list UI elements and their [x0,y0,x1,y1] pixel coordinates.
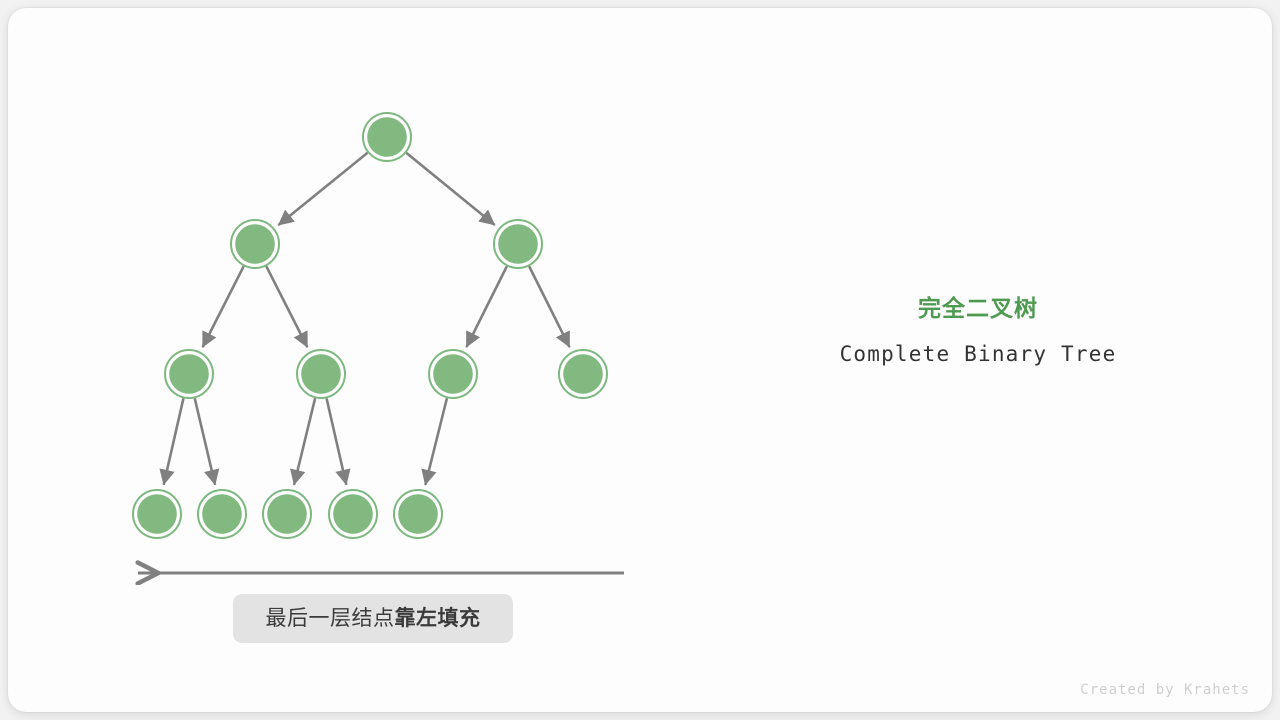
tree-node-disc [433,354,473,394]
tree-edge [294,399,315,484]
tree-edge [279,153,367,224]
tree-node[interactable] [394,490,442,538]
tree-node-disc [333,494,373,534]
tree-node[interactable] [231,220,279,268]
tree-node-disc [301,354,341,394]
tree-node[interactable] [494,220,542,268]
tree-node-disc [563,354,603,394]
annotation-text-strong: 靠左填充 [395,607,481,630]
tree-node[interactable] [133,490,181,538]
tree-node-disc [498,224,538,264]
tree-edge [267,267,307,346]
tree-node[interactable] [559,350,607,398]
tree-edge [195,399,215,484]
tree-edge [426,399,447,484]
tree-node[interactable] [329,490,377,538]
tree-node-disc [202,494,242,534]
tree-edge [467,267,507,346]
tree-edge [327,399,346,483]
tree-node-disc [367,117,407,157]
annotation-text-normal: 最后一层结点 [266,607,395,630]
annotation-badge: 最后一层结点靠左填充 [233,594,513,643]
tree-node-disc [169,354,209,394]
binary-tree-diagram [8,8,1272,712]
diagram-card: 完全二叉树 Complete Binary Tree 最后一层结点靠左填充 Cr… [8,8,1272,712]
tree-node[interactable] [297,350,345,398]
page-root: 完全二叉树 Complete Binary Tree 最后一层结点靠左填充 Cr… [0,0,1280,720]
tree-node-disc [267,494,307,534]
tree-edge [203,267,243,346]
tree-edge [407,153,494,224]
tree-node-disc [137,494,177,534]
tree-node-disc [235,224,275,264]
tree-edge [530,267,570,346]
tree-node-layer [133,113,607,538]
tree-edge-layer [164,153,569,484]
tree-edge [164,399,183,483]
tree-node[interactable] [363,113,411,161]
credit-label: Created by Krahets [1080,682,1250,698]
tree-node-disc [398,494,438,534]
tree-node[interactable] [165,350,213,398]
tree-node[interactable] [263,490,311,538]
tree-node[interactable] [429,350,477,398]
tree-node[interactable] [198,490,246,538]
